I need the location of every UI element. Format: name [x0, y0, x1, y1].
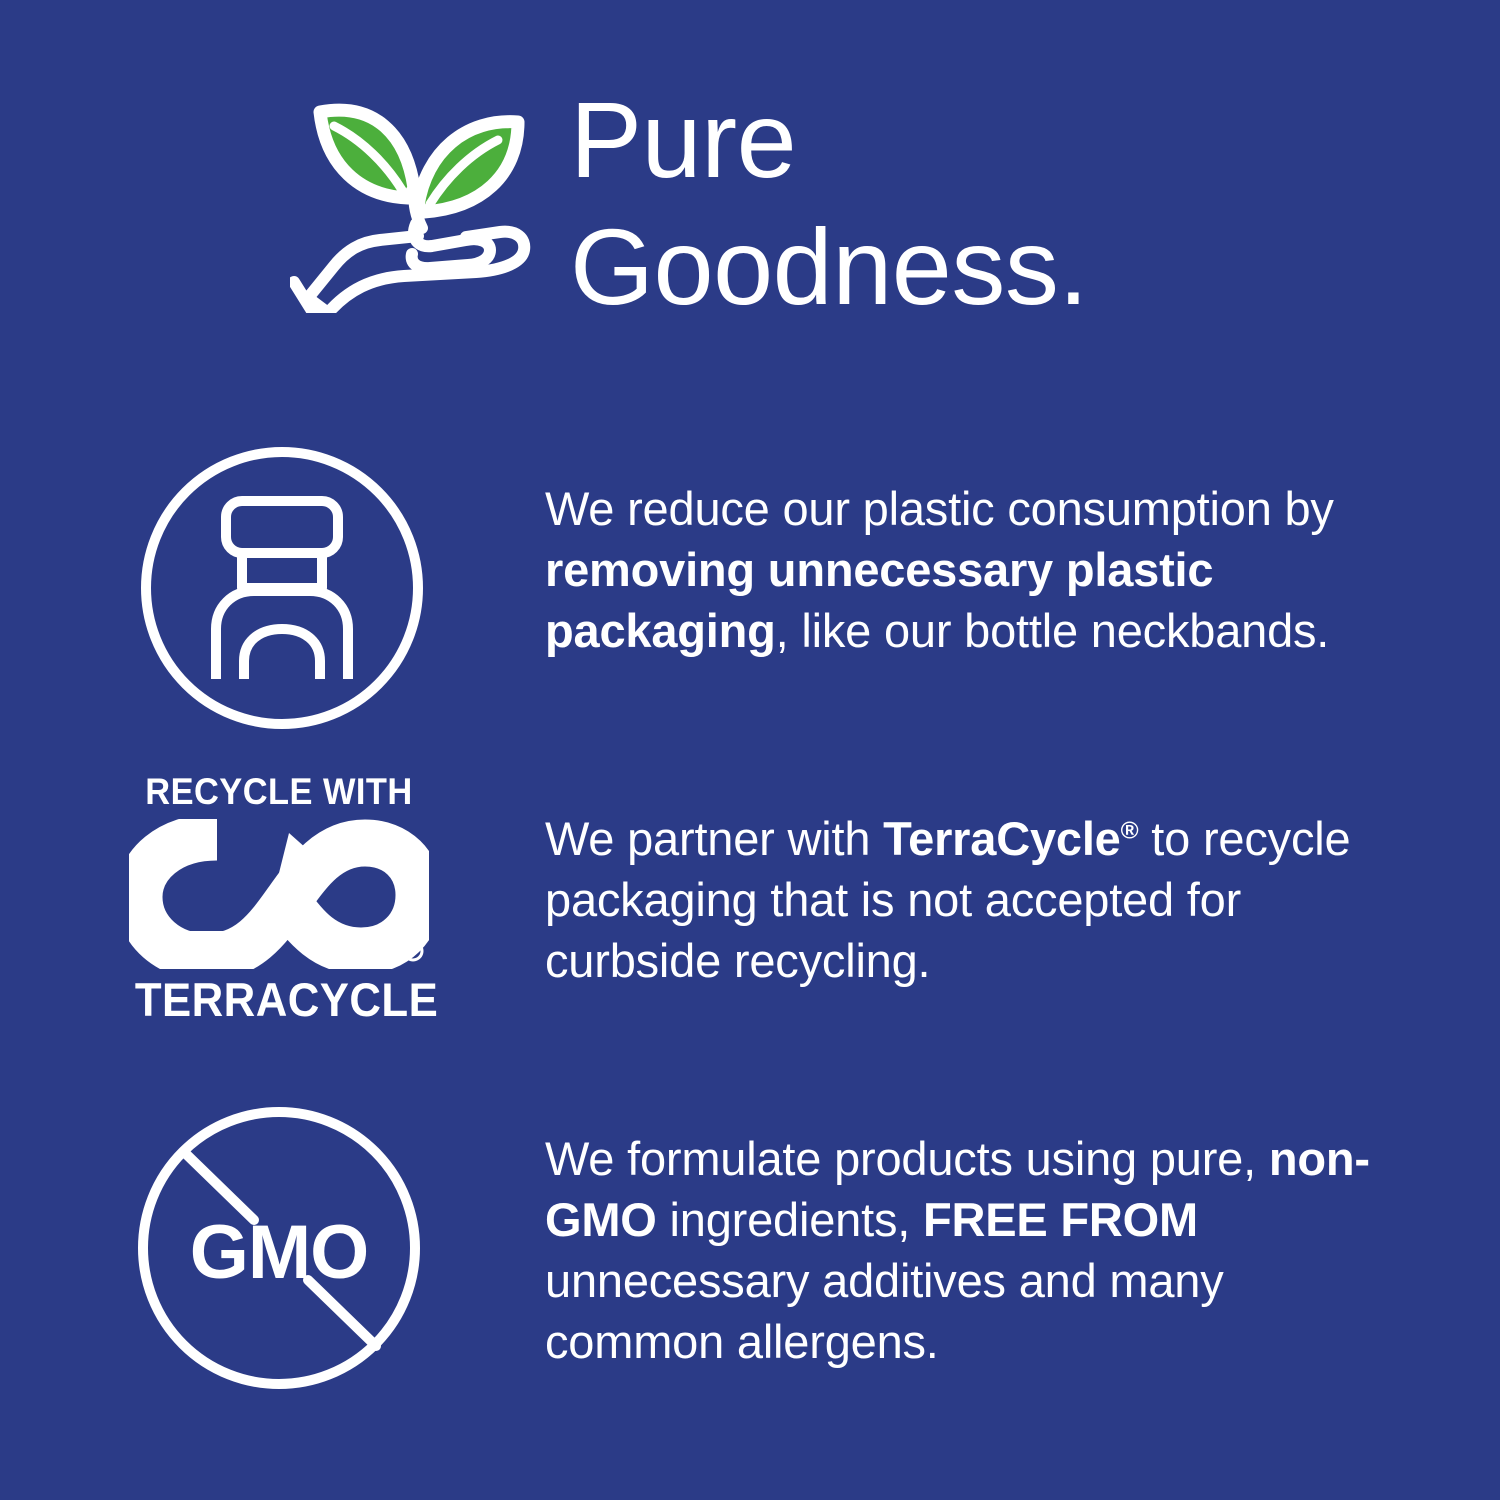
pure-goodness-panel: Pure Goodness. RECYCLE WITH	[0, 0, 1500, 1500]
text-segment-bold: TerraCycle®	[883, 812, 1138, 865]
text-segment: We partner with	[545, 812, 883, 865]
terracycle-wordmark: TERRACYCLE	[135, 976, 423, 1023]
text-segment: We formulate products using pure,	[545, 1132, 1269, 1185]
text-segment: unnecessary additives and many common al…	[545, 1254, 1224, 1368]
benefit-text-non-gmo: We formulate products using pure, non-GM…	[545, 1128, 1445, 1372]
terracycle-infinity-icon	[129, 819, 429, 969]
terracycle-logo: RECYCLE WITH TERRACYCLE	[124, 773, 434, 1041]
text-segment: ingredients,	[657, 1193, 923, 1246]
benefit-text-terracycle: We partner with TerraCycle® to recycle p…	[545, 808, 1445, 991]
text-segment-bold: FREE FROM	[923, 1193, 1198, 1246]
no-gmo-icon: GMO	[134, 1102, 424, 1394]
gmo-label: GMO	[190, 1210, 369, 1295]
terracycle-top-label: RECYCLE WITH	[135, 773, 423, 810]
plastic-free-bottle-neckband-icon	[138, 443, 426, 733]
hand-holding-sprout-icon	[290, 78, 540, 313]
terracycle-brand-name: TerraCycle	[883, 812, 1121, 865]
page-title: Pure Goodness.	[570, 72, 1088, 331]
header: Pure Goodness.	[290, 72, 1088, 331]
text-segment: , like our bottle neckbands.	[776, 604, 1330, 657]
benefit-text-plastic-reduction: We reduce our plastic consumption by rem…	[545, 478, 1445, 661]
icons-column: RECYCLE WITH TERRACYCLE GMO	[0, 430, 500, 1420]
text-segment: We reduce our plastic consumption by	[545, 482, 1334, 535]
registered-trademark-mark: ®	[1121, 817, 1139, 844]
